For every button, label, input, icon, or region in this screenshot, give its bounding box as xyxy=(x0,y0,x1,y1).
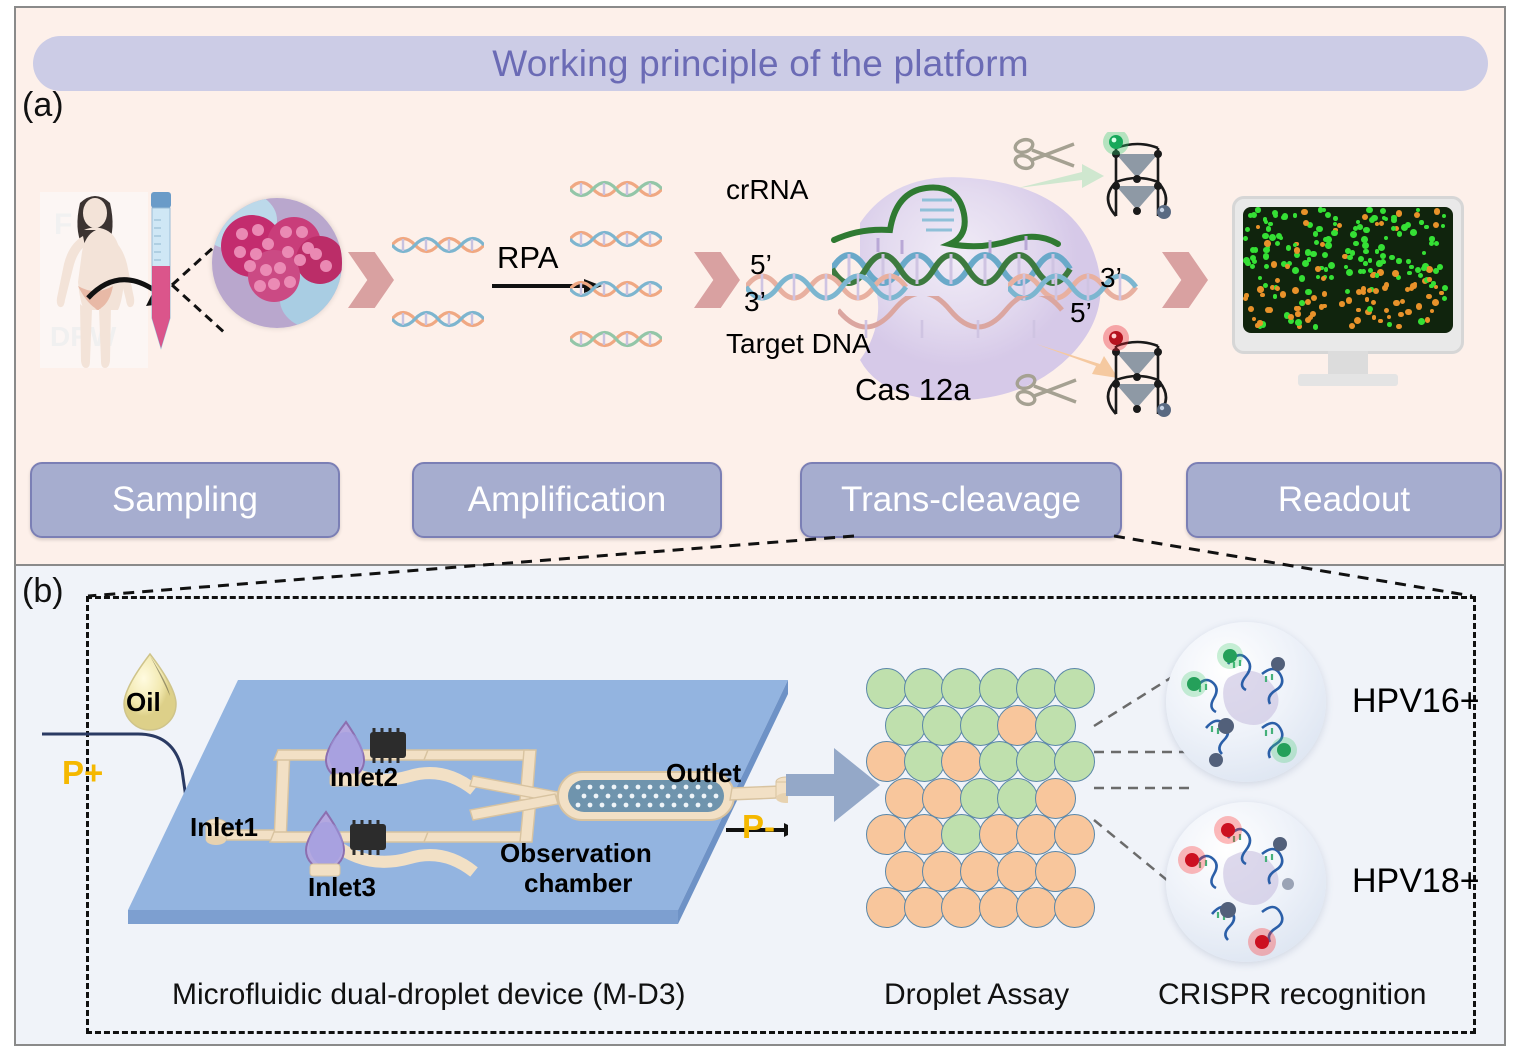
droplet xyxy=(922,851,963,892)
fluorescence-dot xyxy=(1321,276,1326,281)
fluorescence-dot xyxy=(1387,315,1391,319)
droplet xyxy=(885,705,926,746)
cas12a-label: Cas 12a xyxy=(855,372,970,408)
fluorescence-dot xyxy=(1433,222,1439,228)
fluorescence-dot xyxy=(1432,299,1439,306)
fluorescence-dot xyxy=(1363,227,1370,234)
dna-helix-amp-3 xyxy=(570,276,662,302)
fluorescence-dot xyxy=(1345,289,1350,294)
fluorescence-dot xyxy=(1271,261,1278,268)
panel-a-tag: (a) xyxy=(22,86,64,125)
droplet xyxy=(997,705,1038,746)
fluorescence-dot xyxy=(1357,224,1363,230)
monitor-foot xyxy=(1298,374,1398,386)
crrna-label: crRNA xyxy=(726,174,808,206)
fluorescence-dot xyxy=(1328,262,1335,269)
step-label-trans-cleavage: Trans-cleavage xyxy=(841,480,1081,520)
droplet xyxy=(960,778,1001,819)
fluorescence-dot xyxy=(1346,297,1353,304)
fluorescence-screen xyxy=(1243,207,1453,333)
observation-chamber-label-1: Observation xyxy=(500,838,652,869)
fluorescence-dot xyxy=(1243,296,1248,301)
droplet xyxy=(1054,668,1095,709)
droplet xyxy=(866,668,907,709)
fluorescence-dot xyxy=(1311,295,1318,302)
fluorescence-dot xyxy=(1368,268,1373,273)
droplet xyxy=(1035,851,1076,892)
green-reporter-graphic xyxy=(1012,132,1142,232)
step-label-amplification: Amplification xyxy=(468,480,666,520)
pressure-in-label: P+ xyxy=(62,754,103,792)
fluorescence-dot xyxy=(1320,242,1325,247)
red-reporter-graphic xyxy=(1012,320,1142,420)
fluorescence-dot xyxy=(1263,247,1270,254)
fluorescence-dot xyxy=(1378,319,1382,323)
fluorescence-dot xyxy=(1275,241,1280,246)
fluorescence-dot xyxy=(1442,214,1446,218)
droplet xyxy=(904,887,945,928)
fluorescence-dot xyxy=(1407,271,1411,275)
fluorescence-dot xyxy=(1441,224,1445,228)
fluorescence-dot xyxy=(1264,220,1268,224)
patient-illustration: F S DRW xyxy=(28,186,163,371)
fluorescence-dot xyxy=(1401,224,1408,231)
droplet xyxy=(1035,705,1076,746)
step-label-sampling: Sampling xyxy=(112,480,258,520)
fluorescence-dot xyxy=(1442,285,1448,291)
fluorescence-dot xyxy=(1280,291,1286,297)
fluorescence-dot xyxy=(1263,283,1268,288)
hpv-virus-inset xyxy=(212,198,342,328)
fluorescence-dot xyxy=(1257,320,1262,325)
fluorescence-dot xyxy=(1292,267,1299,274)
fluorescence-dot xyxy=(1434,208,1441,215)
panel-b-tag: (b) xyxy=(22,572,64,611)
fluorescence-dot xyxy=(1262,233,1268,239)
droplet xyxy=(904,668,945,709)
droplet xyxy=(941,887,982,928)
droplet xyxy=(979,741,1020,782)
fluorescence-dot xyxy=(1324,267,1328,271)
droplet xyxy=(997,851,1038,892)
fluorescence-dot xyxy=(1349,323,1355,329)
three-prime-left-label: 3’ xyxy=(744,286,766,318)
fluorescence-dot xyxy=(1323,237,1328,242)
fluorescence-dot xyxy=(1310,251,1317,258)
fluorescence-dot xyxy=(1431,281,1436,286)
fluorescence-dot xyxy=(1345,248,1351,254)
caption-device: Microfluidic dual-droplet device (M-D3) xyxy=(172,978,686,1012)
fluorescence-dot xyxy=(1294,306,1299,311)
droplet xyxy=(904,741,945,782)
fluorescence-dot xyxy=(1269,234,1276,241)
fluorescence-dot xyxy=(1416,208,1420,212)
droplet xyxy=(960,705,1001,746)
droplet xyxy=(922,705,963,746)
fluorescence-dot xyxy=(1362,214,1368,220)
fluorescence-dot xyxy=(1418,273,1423,278)
caption-droplet-assay: Droplet Assay xyxy=(884,978,1069,1012)
fluorescence-dot xyxy=(1378,244,1385,251)
fluorescence-dot xyxy=(1276,233,1282,239)
fluorescence-dot xyxy=(1368,258,1372,262)
droplet xyxy=(960,851,1001,892)
fluorescence-dot xyxy=(1322,252,1328,258)
inlet3-label: Inlet3 xyxy=(308,872,376,903)
fluorescence-dot xyxy=(1273,213,1278,218)
fluorescence-dot xyxy=(1354,242,1358,246)
fluorescence-dot xyxy=(1384,282,1389,287)
readout-monitor xyxy=(1232,196,1464,386)
fluorescence-dot xyxy=(1406,259,1411,264)
fluorescence-dot xyxy=(1416,303,1422,309)
droplet xyxy=(979,814,1020,855)
fluorescence-dot xyxy=(1329,275,1334,280)
fluorescence-dot xyxy=(1325,212,1331,218)
three-prime-right-label: 3’ xyxy=(1100,262,1122,294)
fluorescence-dot xyxy=(1442,296,1447,301)
fluorescence-dot xyxy=(1380,208,1386,214)
fluorescence-dot xyxy=(1256,225,1261,230)
fluorescence-dot xyxy=(1344,265,1348,269)
fluorescence-dot xyxy=(1367,288,1372,293)
fluorescence-dot xyxy=(1393,300,1399,306)
fluorescence-dot xyxy=(1260,293,1264,297)
dna-helix-pre-1 xyxy=(392,232,484,258)
fluorescence-dot xyxy=(1396,210,1402,216)
droplet xyxy=(1054,814,1095,855)
fluorescence-dot xyxy=(1405,309,1412,316)
fluorescence-dot xyxy=(1313,324,1318,329)
fluorescence-dot xyxy=(1258,276,1262,280)
rpa-label: RPA xyxy=(497,240,558,276)
fluorescence-dot xyxy=(1389,255,1395,261)
fluorescence-dot xyxy=(1363,261,1367,265)
fluorescence-dot xyxy=(1384,308,1389,313)
fluorescence-dot xyxy=(1245,261,1251,267)
step-button-trans-cleavage[interactable]: Trans-cleavage xyxy=(800,462,1122,538)
fluorescence-dot xyxy=(1292,287,1299,294)
fluorescence-dot xyxy=(1405,287,1410,292)
fluorescence-dot xyxy=(1255,207,1260,212)
inlet1-label: Inlet1 xyxy=(190,812,258,843)
fluorescence-dot xyxy=(1337,223,1342,228)
step-button-readout[interactable]: Readout xyxy=(1186,462,1502,538)
fluorescence-dot xyxy=(1293,213,1298,218)
fluorescence-dot xyxy=(1363,249,1369,255)
dna-helix-amp-1 xyxy=(570,176,662,202)
fluorescence-dot xyxy=(1430,309,1434,313)
fluorescence-dot xyxy=(1375,249,1379,253)
fluorescence-dot xyxy=(1418,318,1425,325)
fluorescence-dot xyxy=(1316,226,1322,232)
fluorescence-dot xyxy=(1354,317,1361,324)
hpv16-label: HPV16+ xyxy=(1352,682,1480,721)
step-button-amplification[interactable]: Amplification xyxy=(412,462,722,538)
figure-root: Working principle of the platform (a) F … xyxy=(0,0,1516,1052)
fluorescence-dot xyxy=(1299,300,1305,306)
fluorescence-dot xyxy=(1275,286,1280,291)
fluorescence-dot xyxy=(1434,241,1439,246)
fluorescence-dot xyxy=(1380,253,1386,259)
fluorescence-dot xyxy=(1264,264,1269,269)
fluorescence-dot xyxy=(1314,240,1319,245)
fluorescence-dot xyxy=(1358,269,1363,274)
step-button-sampling[interactable]: Sampling xyxy=(30,462,340,538)
fluorescence-dot xyxy=(1425,317,1431,323)
fluorescence-dot xyxy=(1387,322,1392,327)
fluorescence-dot xyxy=(1266,226,1272,232)
fluorescence-dot xyxy=(1439,291,1443,295)
fluorescence-dot xyxy=(1421,266,1427,272)
fluorescence-dot xyxy=(1250,264,1255,269)
fluorescence-dot xyxy=(1286,245,1292,251)
fluorescence-dot xyxy=(1310,311,1316,317)
droplet xyxy=(941,741,982,782)
crispr-bubble-hpv18 xyxy=(1166,802,1326,962)
droplet xyxy=(885,851,926,892)
fluorescence-dot xyxy=(1372,315,1377,320)
fluorescence-dot xyxy=(1392,270,1399,277)
droplet xyxy=(1054,741,1095,782)
fluorescence-dot xyxy=(1410,283,1417,290)
title-bar: Working principle of the platform xyxy=(33,36,1488,91)
five-prime-left-label: 5’ xyxy=(750,249,772,281)
hpv18-label: HPV18+ xyxy=(1352,862,1480,901)
fluorescence-dot xyxy=(1285,264,1290,269)
droplet xyxy=(979,668,1020,709)
pressure-out-label: P- xyxy=(742,808,775,846)
crispr-bubble-hpv16 xyxy=(1166,622,1326,782)
fluorescence-dot xyxy=(1273,294,1277,298)
dna-helix-pre-2 xyxy=(392,306,484,332)
fluorescence-dot xyxy=(1302,260,1309,267)
droplet xyxy=(1054,887,1095,928)
fluorescence-dot xyxy=(1288,314,1294,320)
droplet xyxy=(866,814,907,855)
fluorescence-dot xyxy=(1299,275,1306,282)
droplet xyxy=(1016,887,1057,928)
droplet xyxy=(904,814,945,855)
fluorescence-dot xyxy=(1371,300,1376,305)
fluorescence-dot xyxy=(1305,317,1311,323)
fluorescence-dot xyxy=(1257,286,1263,292)
droplet xyxy=(1016,668,1057,709)
fluorescence-dot xyxy=(1426,294,1432,300)
fluorescence-dot xyxy=(1295,311,1300,316)
fluorescence-dot xyxy=(1400,299,1405,304)
fluorescence-dot xyxy=(1253,247,1258,252)
caption-crispr-recognition: CRISPR recognition xyxy=(1158,978,1426,1012)
dna-helix-amp-2 xyxy=(570,226,662,252)
fluorescence-dot xyxy=(1295,319,1302,326)
fluorescence-dot xyxy=(1275,278,1280,283)
outlet-label: Outlet xyxy=(666,758,741,789)
fluorescence-dot xyxy=(1331,230,1337,236)
fluorescence-dot xyxy=(1301,209,1308,216)
droplet xyxy=(885,778,926,819)
fluorescence-dot xyxy=(1264,240,1271,247)
droplet xyxy=(1016,741,1057,782)
fluorescence-dot xyxy=(1373,288,1380,295)
inlet2-label: Inlet2 xyxy=(330,762,398,793)
fluorescence-dot xyxy=(1391,217,1396,222)
fluorescence-dot xyxy=(1268,222,1272,226)
fluorescence-dot xyxy=(1265,307,1272,314)
droplet xyxy=(1035,778,1076,819)
fluorescence-dot xyxy=(1325,242,1332,249)
droplet xyxy=(941,668,982,709)
fluorescence-dot xyxy=(1409,265,1414,270)
fluorescence-dot xyxy=(1375,222,1379,226)
fluorescence-dot xyxy=(1437,264,1443,270)
droplet xyxy=(1016,814,1057,855)
fluorescence-dot xyxy=(1322,291,1327,296)
fluorescence-dot xyxy=(1356,308,1361,313)
fluorescence-dot xyxy=(1397,231,1402,236)
droplet xyxy=(866,887,907,928)
fluorescence-dot xyxy=(1414,212,1421,219)
fluorescence-dot xyxy=(1305,289,1312,296)
fluorescence-dot xyxy=(1396,324,1401,329)
fluorescence-dot xyxy=(1313,231,1318,236)
fluorescence-dot xyxy=(1365,297,1369,301)
fluorescence-dot xyxy=(1252,317,1257,322)
fluorescence-dot xyxy=(1248,306,1254,312)
droplet xyxy=(979,887,1020,928)
fluorescence-dot xyxy=(1319,304,1324,309)
zoom-connector-lines xyxy=(84,534,1478,600)
fluorescence-dot xyxy=(1263,253,1269,259)
fluorescence-dot xyxy=(1419,220,1423,224)
fluorescence-dot xyxy=(1361,290,1366,295)
fluorescence-dot xyxy=(1305,299,1311,305)
droplet xyxy=(941,814,982,855)
target-dna-label: Target DNA xyxy=(726,328,871,360)
fluorescence-dot xyxy=(1375,273,1380,278)
fluorescence-dot xyxy=(1316,275,1320,279)
fluorescence-dot xyxy=(1366,207,1372,213)
fluorescence-dot xyxy=(1367,306,1373,312)
fluorescence-dot xyxy=(1379,221,1384,226)
fluorescence-dot xyxy=(1333,216,1338,221)
fluorescence-dot xyxy=(1429,241,1434,246)
fluorescence-dot xyxy=(1339,301,1345,307)
fluorescence-dot xyxy=(1424,225,1428,229)
droplet-array xyxy=(866,668,1091,938)
fluorescence-dot xyxy=(1396,258,1402,264)
fluorescence-dot xyxy=(1315,266,1321,272)
fluorescence-dot xyxy=(1318,207,1323,212)
page-title: Working principle of the platform xyxy=(492,43,1029,85)
fluorescence-dot xyxy=(1422,251,1427,256)
observation-chamber-label-2: chamber xyxy=(524,868,632,899)
fluorescence-dot xyxy=(1350,231,1357,238)
droplet xyxy=(922,778,963,819)
fluorescence-dot xyxy=(1245,227,1250,232)
fluorescence-dot xyxy=(1384,236,1389,241)
droplet xyxy=(997,778,1038,819)
fluorescence-dot xyxy=(1398,312,1403,317)
fluorescence-dot xyxy=(1346,269,1353,276)
fluorescence-dot xyxy=(1282,213,1288,219)
droplet xyxy=(866,741,907,782)
fluorescence-dot xyxy=(1410,229,1417,236)
dna-helix-amp-4 xyxy=(570,326,662,352)
step-label-readout: Readout xyxy=(1278,480,1410,520)
fluorescence-dot xyxy=(1243,236,1248,241)
